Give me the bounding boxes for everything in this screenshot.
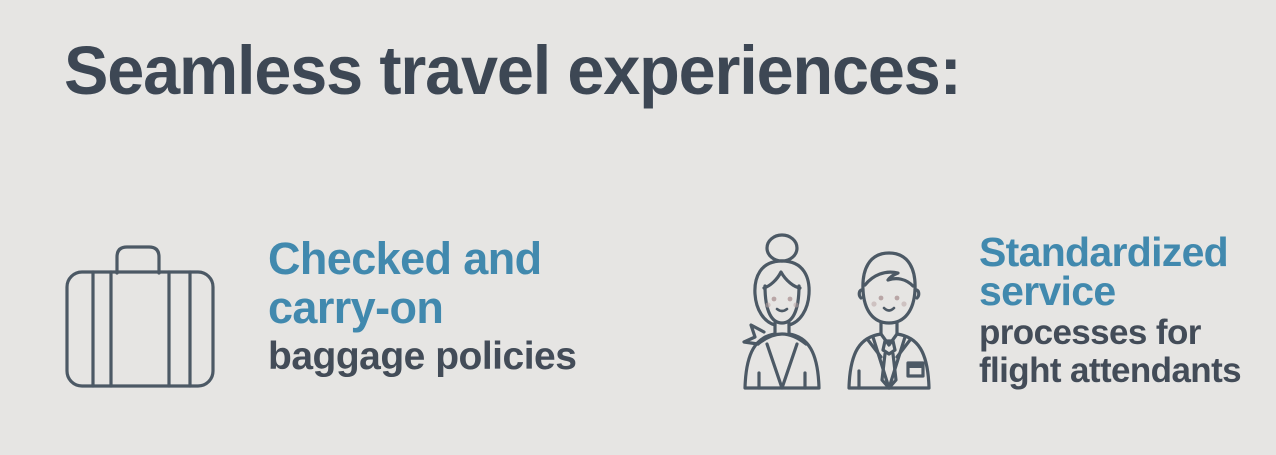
feature-subline: processes for flight attendants <box>979 314 1241 390</box>
feature-subline: baggage policies <box>268 333 576 380</box>
feature-text-block: Checked and carry-on baggage policies <box>268 228 576 380</box>
male-attendant-figure <box>849 253 929 388</box>
slide-canvas: Seamless travel experiences: Checked <box>0 0 1276 455</box>
suitcase-icon <box>60 228 220 403</box>
feature-item-service: Standardized service processes for fligh… <box>742 228 1241 398</box>
feature-headline: Standardized service <box>979 233 1241 311</box>
feature-columns: Checked and carry-on baggage policies <box>0 0 1276 455</box>
female-attendant-figure <box>744 235 819 388</box>
flight-attendants-icon <box>742 228 957 398</box>
feature-headline: Checked and carry-on <box>268 234 576 332</box>
feature-item-baggage: Checked and carry-on baggage policies <box>60 228 576 403</box>
feature-text-block: Standardized service processes for fligh… <box>979 228 1241 390</box>
